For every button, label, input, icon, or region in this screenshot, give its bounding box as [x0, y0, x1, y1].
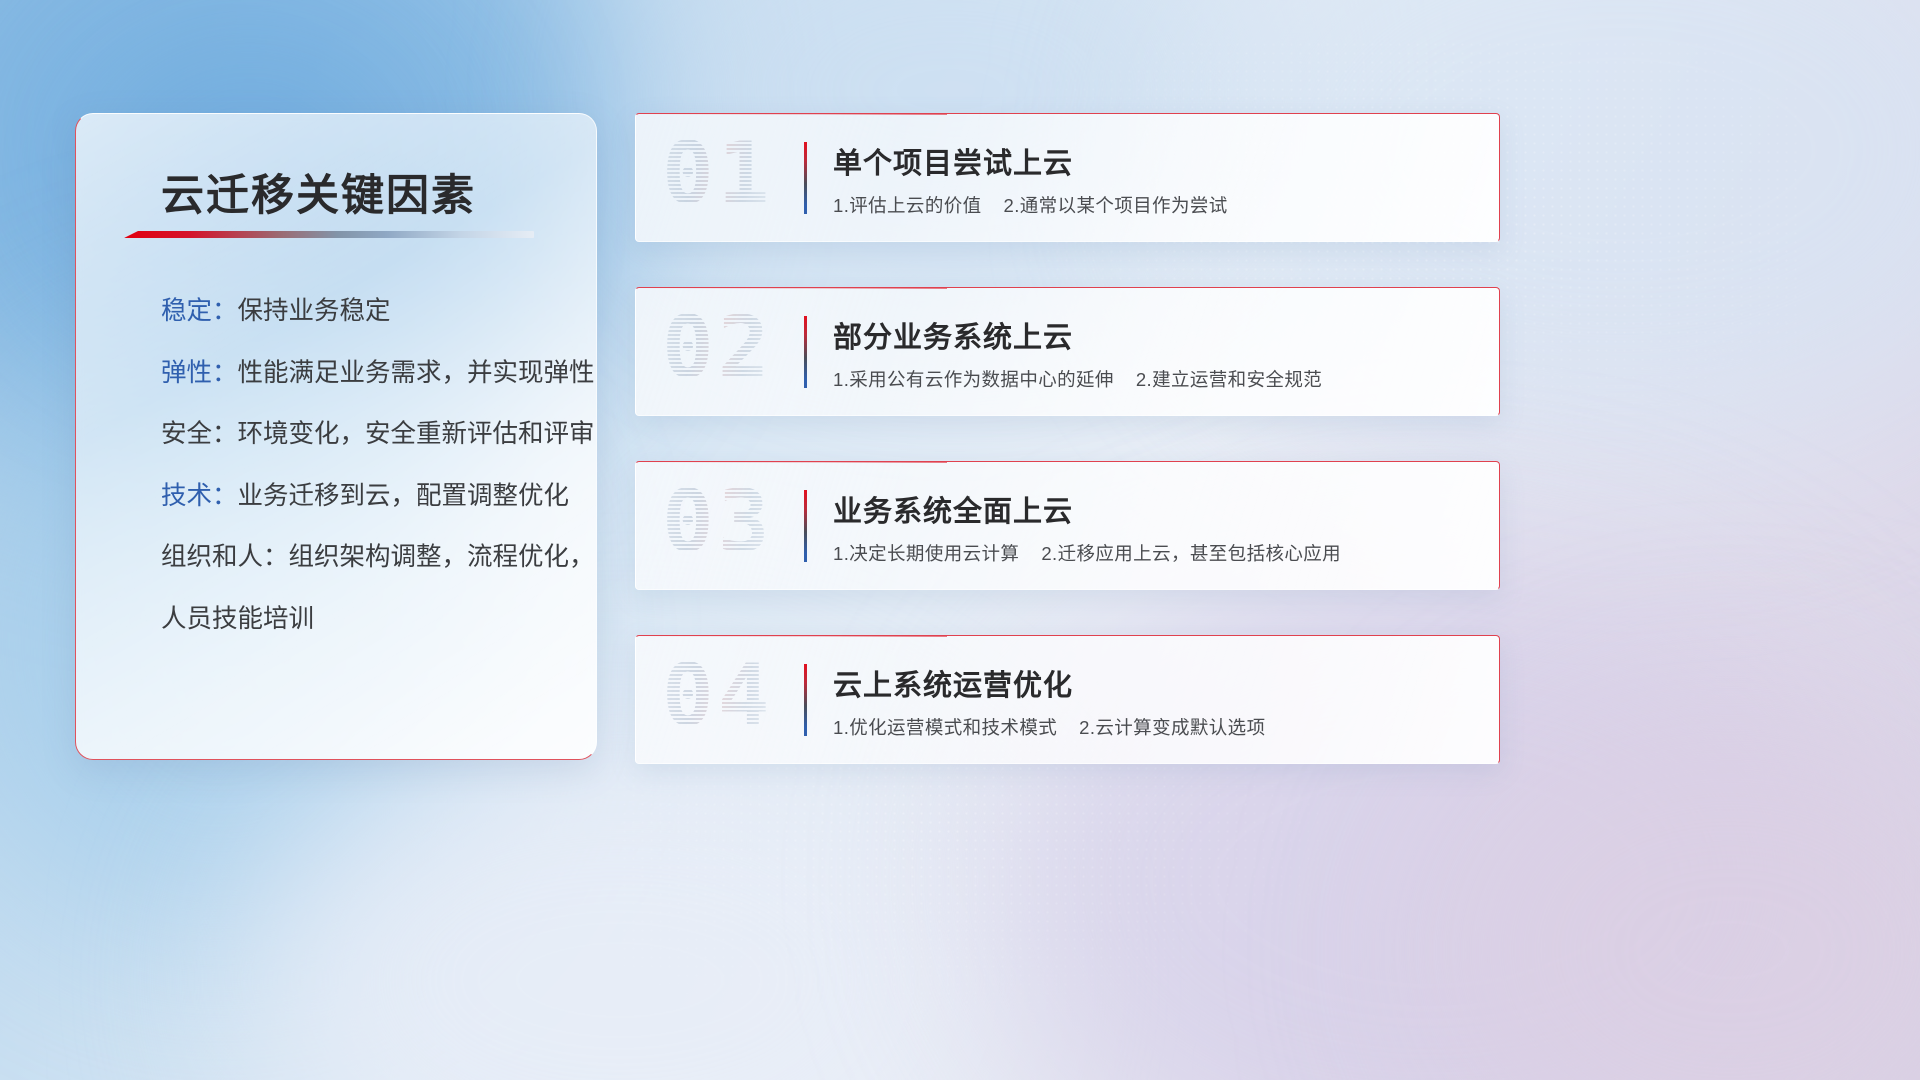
stage-point: 2.云计算变成默认选项	[1079, 717, 1265, 738]
stage-point: 2.迁移应用上云，甚至包括核心应用	[1041, 543, 1341, 564]
panel-title: 云迁移关键因素	[161, 161, 476, 223]
stage-title: 业务系统全面上云	[833, 488, 1073, 530]
stage-accent-bar	[804, 316, 807, 388]
list-item-value: 保持业务稳定	[238, 297, 391, 325]
list-item-value: 性能满足业务需求，并实现弹性	[238, 359, 595, 387]
list-item: 稳定：保持业务稳定	[161, 299, 581, 325]
list-item-continuation: 人员技能培训	[161, 607, 581, 633]
stage-accent-bar	[804, 490, 807, 562]
stage-accent-bar	[804, 664, 807, 736]
list-item-value: 组织架构调整，流程优化，	[289, 543, 595, 571]
list-item: 技术：业务迁移到云，配置调整优化	[161, 484, 581, 510]
stage-title: 云上系统运营优化	[833, 662, 1073, 704]
stage-number-watermark: 03	[662, 472, 774, 572]
stage-point: 2.建立运营和安全规范	[1136, 369, 1322, 390]
stage-card-04[interactable]: 04 云上系统运营优化 1.优化运营模式和技术模式2.云计算变成默认选项	[635, 635, 1500, 764]
list-item-key: 技术：	[161, 482, 238, 510]
key-factors-panel: 云迁移关键因素 稳定：保持业务稳定 弹性：性能满足业务需求，并实现弹性 安全：环…	[75, 113, 597, 760]
stage-title: 部分业务系统上云	[833, 314, 1073, 356]
stage-number-watermark: 02	[662, 298, 774, 398]
list-item: 安全：环境变化，安全重新评估和评审	[161, 422, 581, 448]
list-item: 弹性：性能满足业务需求，并实现弹性	[161, 361, 581, 387]
stage-point: 2.通常以某个项目作为尝试	[1004, 195, 1228, 216]
stage-number-watermark: 01	[662, 124, 774, 224]
stage-point: 1.评估上云的价值	[833, 195, 982, 216]
stage-point: 1.采用公有云作为数据中心的延伸	[833, 369, 1114, 390]
list-item-value: 业务迁移到云，配置调整优化	[238, 482, 570, 510]
list-item-key: 稳定：	[161, 297, 238, 325]
list-item-key: 安全：	[161, 420, 238, 448]
stage-number-watermark: 04	[662, 646, 774, 746]
stage-points: 1.评估上云的价值2.通常以某个项目作为尝试	[833, 192, 1228, 218]
stage-card-02[interactable]: 02 部分业务系统上云 1.采用公有云作为数据中心的延伸2.建立运营和安全规范	[635, 287, 1500, 416]
stage-card-03[interactable]: 03 业务系统全面上云 1.决定长期使用云计算2.迁移应用上云，甚至包括核心应用	[635, 461, 1500, 590]
migration-stage-card-list: 01 单个项目尝试上云 1.评估上云的价值2.通常以某个项目作为尝试 02 部分…	[635, 113, 1500, 764]
list-item-key: 弹性：	[161, 359, 238, 387]
list-item-value: 环境变化，安全重新评估和评审	[238, 420, 595, 448]
stage-points: 1.决定长期使用云计算2.迁移应用上云，甚至包括核心应用	[833, 540, 1341, 566]
stage-points: 1.采用公有云作为数据中心的延伸2.建立运营和安全规范	[833, 366, 1322, 392]
list-item: 组织和人：组织架构调整，流程优化，	[161, 545, 581, 571]
key-factors-list: 稳定：保持业务稳定 弹性：性能满足业务需求，并实现弹性 安全：环境变化，安全重新…	[161, 299, 581, 632]
stage-card-01[interactable]: 01 单个项目尝试上云 1.评估上云的价值2.通常以某个项目作为尝试	[635, 113, 1500, 242]
stage-points: 1.优化运营模式和技术模式2.云计算变成默认选项	[833, 714, 1265, 740]
title-underline-accent	[124, 231, 534, 238]
list-item-key: 组织和人：	[161, 543, 289, 571]
stage-accent-bar	[804, 142, 807, 214]
stage-point: 1.决定长期使用云计算	[833, 543, 1019, 564]
stage-point: 1.优化运营模式和技术模式	[833, 717, 1057, 738]
stage-title: 单个项目尝试上云	[833, 140, 1073, 182]
